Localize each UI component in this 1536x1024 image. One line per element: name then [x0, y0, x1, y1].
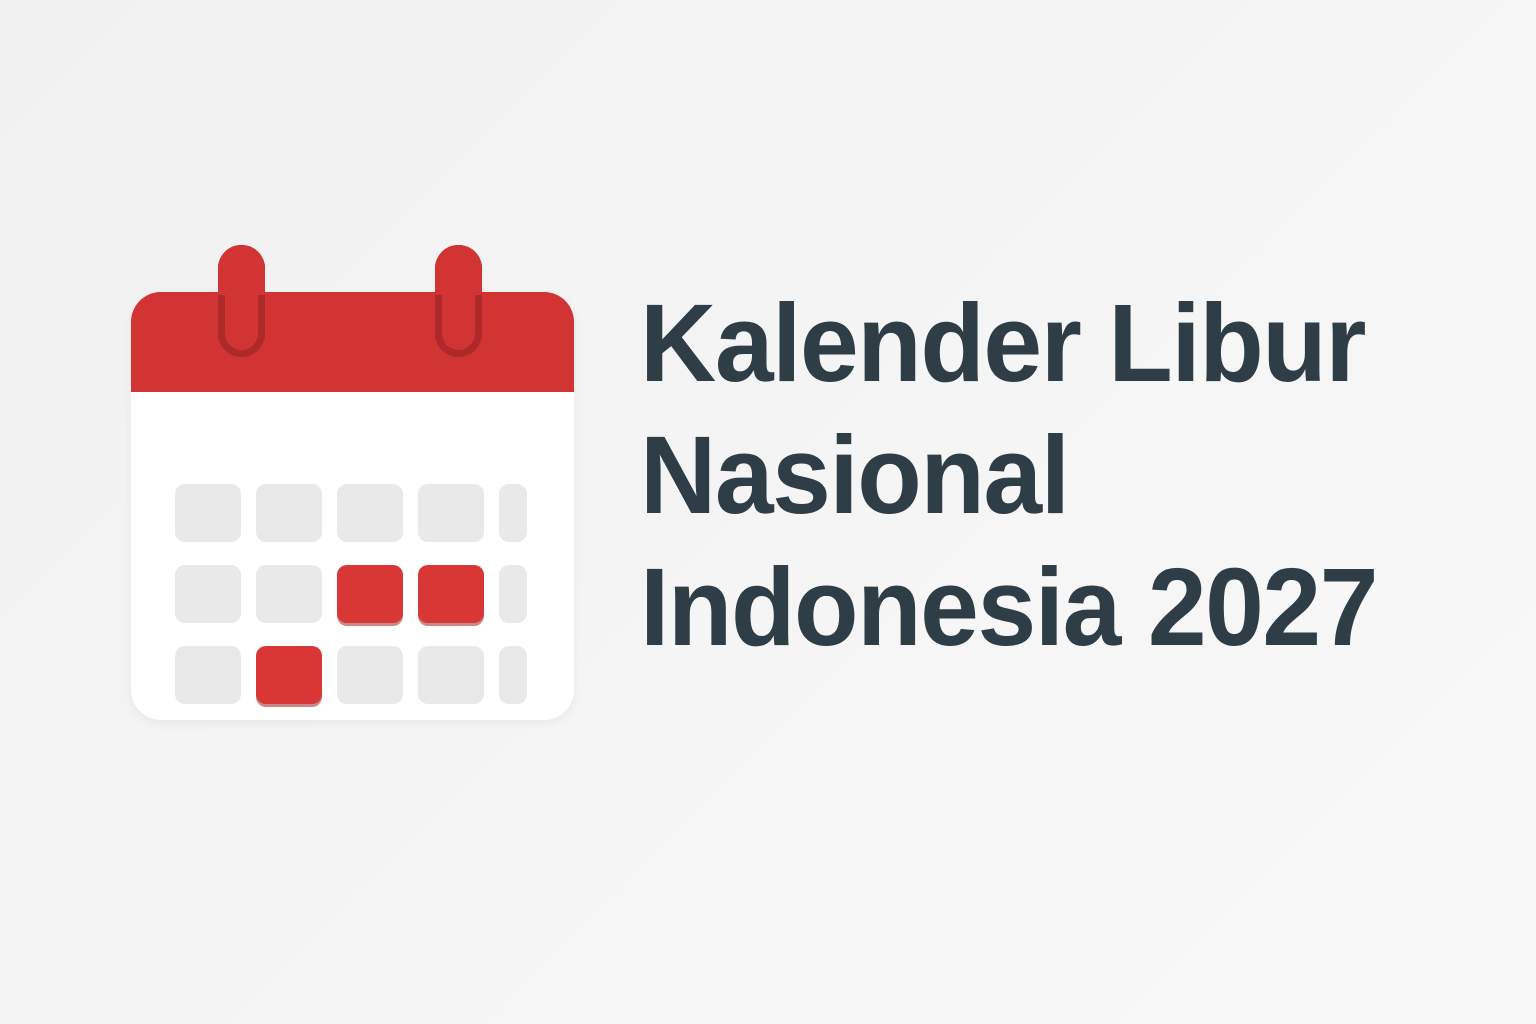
calendar-holiday-cell: [337, 565, 403, 623]
calendar-day-cell: [418, 484, 484, 542]
calendar-day-cell: [499, 646, 527, 704]
calendar-day-grid: [175, 484, 574, 704]
calendar-icon: [131, 243, 574, 720]
calendar-day-cell: [256, 484, 322, 542]
calendar-ring-left-icon: [218, 245, 265, 357]
calendar-holiday-cell: [418, 565, 484, 623]
calendar-day-cell: [337, 484, 403, 542]
calendar-day-cell: [256, 565, 322, 623]
calendar-day-cell: [499, 484, 527, 542]
page-title-line-1: Kalender Libur: [640, 278, 1427, 410]
calendar-day-cell: [175, 565, 241, 623]
calendar-body: [131, 292, 574, 720]
calendar-holiday-cell: [256, 646, 322, 704]
calendar-header-band: [131, 292, 574, 392]
calendar-day-cell: [418, 646, 484, 704]
calendar-day-cell: [337, 646, 403, 704]
calendar-day-cell: [175, 484, 241, 542]
calendar-ring-right-icon: [435, 245, 482, 357]
calendar-day-cell: [499, 565, 527, 623]
page-title-line-2: Nasional: [640, 410, 1427, 542]
poster-canvas: Kalender Libur Nasional Indonesia 2027: [0, 0, 1536, 1024]
calendar-day-cell: [175, 646, 241, 704]
page-title-line-3: Indonesia 2027: [640, 542, 1427, 674]
page-title: Kalender Libur Nasional Indonesia 2027: [640, 278, 1460, 674]
